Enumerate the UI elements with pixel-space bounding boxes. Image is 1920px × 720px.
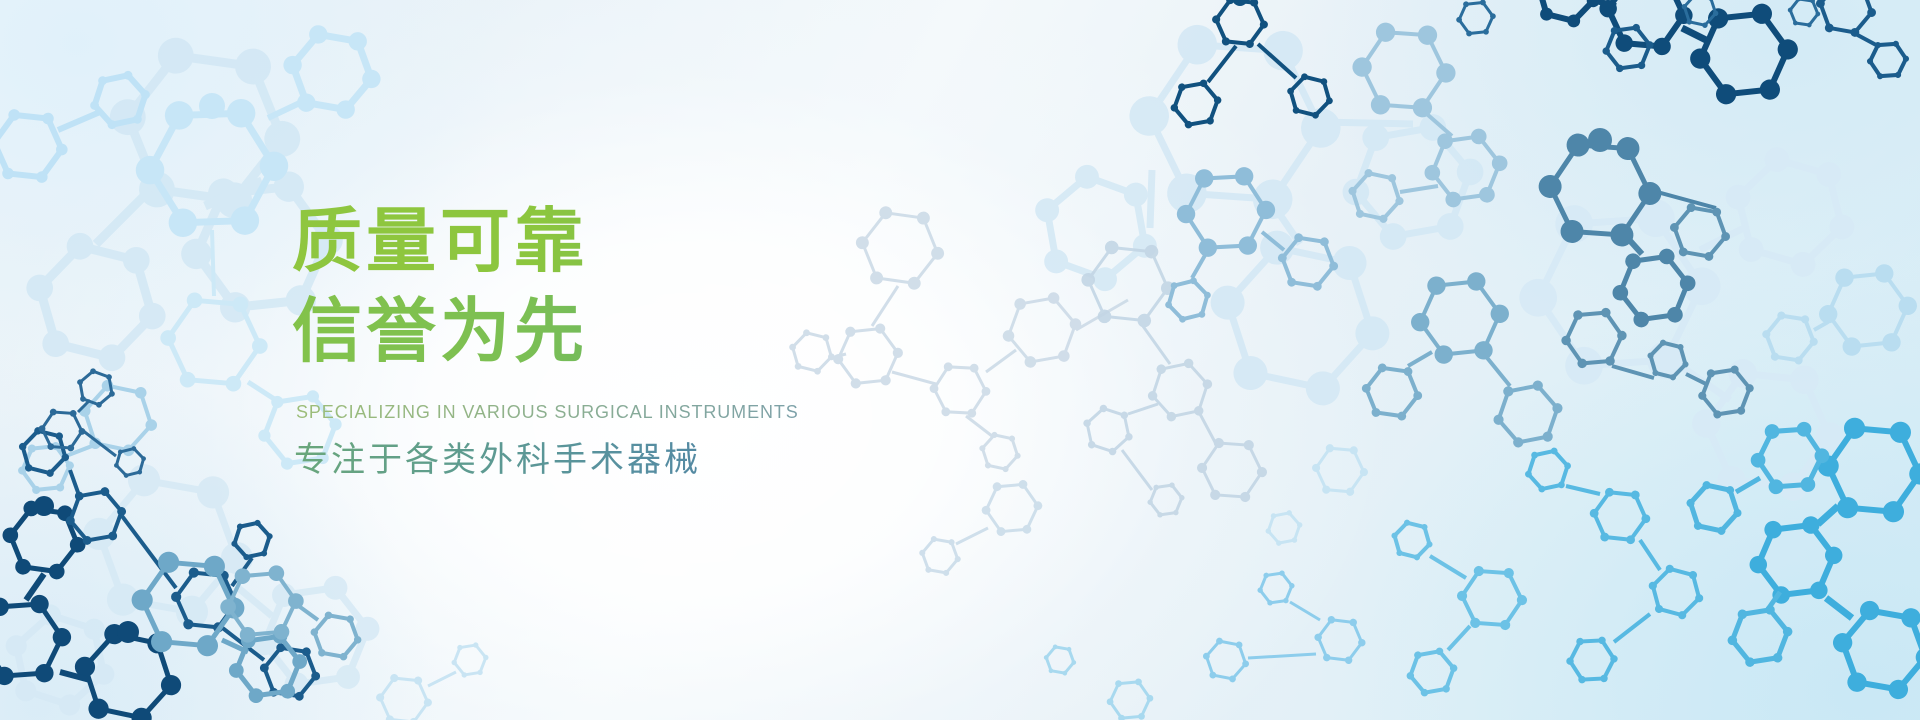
hero-banner: 质量可靠 信誉为先 SPECIALIZING IN VARIOUS SURGIC…: [0, 0, 1920, 720]
hero-copy-block: 质量可靠 信誉为先 SPECIALIZING IN VARIOUS SURGIC…: [292, 196, 1052, 481]
headline-line-1: 质量可靠: [292, 196, 1052, 286]
subtitle-english: SPECIALIZING IN VARIOUS SURGICAL INSTRUM…: [296, 402, 1052, 423]
headline-line-2: 信誉为先: [292, 286, 1052, 376]
subtitle-chinese: 专注于各类外科手术器械: [294, 432, 1052, 481]
